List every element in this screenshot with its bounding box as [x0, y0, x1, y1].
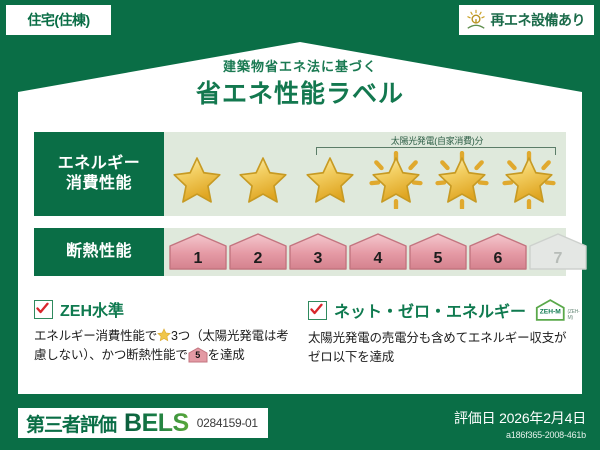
- energy-performance-row: エネルギー 消費性能 太陽光発電(自家消費)分: [34, 132, 566, 216]
- inline-grade-value: 5: [188, 349, 208, 363]
- zeh-checkbox[interactable]: [34, 300, 53, 319]
- zeh-body-part1: エネルギー消費性能で: [34, 329, 157, 343]
- insulation-grade-value: 1: [168, 250, 228, 268]
- insulation-performance-row-body: 1234567: [164, 228, 566, 276]
- building-type-tag: 住宅(住棟): [6, 5, 111, 35]
- net-zero-criterion-head: ネット・ゼロ・エネルギー ZEH-M (ZEH-M): [308, 297, 576, 323]
- zeh-body-part3: を達成: [208, 348, 245, 362]
- insulation-grade-6: 6: [468, 232, 528, 272]
- zeh-criterion-title: ZEH水準: [60, 297, 124, 321]
- solar-contribution-note: 太陽光発電(自家消費)分: [316, 134, 558, 147]
- insulation-grade-value: 6: [468, 250, 528, 268]
- insulation-grade-value: 4: [348, 250, 408, 268]
- evaluation-info: 評価日 2026年2月4日 a186f365-2008-461b: [454, 408, 586, 440]
- star-icon-solar: [367, 151, 425, 209]
- page-title: 省エネ性能ラベル: [0, 74, 600, 110]
- insulation-grade-7: 7: [528, 232, 588, 272]
- evaluation-date: 評価日 2026年2月4日: [454, 408, 586, 428]
- star-icon-solar: [433, 151, 491, 209]
- inline-star-icon: [157, 328, 171, 342]
- bels-logo: BELS: [124, 409, 189, 438]
- net-zero-checkbox[interactable]: [308, 301, 327, 320]
- energy-performance-row-label: エネルギー 消費性能: [34, 132, 164, 216]
- zeh-criterion-head: ZEH水準: [34, 297, 296, 321]
- energy-performance-row-body: 太陽光発電(自家消費)分: [164, 132, 566, 216]
- zeh-m-logo-sub: (ZEH-M): [568, 309, 583, 323]
- building-type-tag-label: 住宅(住棟): [27, 10, 89, 30]
- solar-sun-icon: [465, 9, 487, 31]
- insulation-grade-scale: 1234567: [168, 231, 560, 273]
- evaluation-uid: a186f365-2008-461b: [454, 430, 586, 440]
- insulation-performance-row: 断熱性能 1234567: [34, 228, 566, 276]
- net-zero-criterion-body: 太陽光発電の売電分も含めてエネルギー収支がゼロ以下を達成: [308, 329, 576, 368]
- renewable-energy-badge-label: 再エネ設備あり: [491, 10, 586, 30]
- insulation-grade-3: 3: [288, 232, 348, 272]
- net-zero-criterion-title: ネット・ゼロ・エネルギー: [334, 298, 526, 322]
- star-icon: [301, 151, 359, 209]
- insulation-grade-value: 7: [528, 250, 588, 268]
- bels-footer: 第三者評価 BELS 0284159-01: [18, 408, 268, 438]
- label-subtitle: 建築物省エネ法に基づく: [0, 56, 600, 75]
- zeh-criterion-body: エネルギー消費性能で3つ（太陽光発電は考慮しない）、かつ断熱性能で5を達成: [34, 327, 296, 366]
- net-zero-criterion: ネット・ゼロ・エネルギー ZEH-M (ZEH-M) 太陽光発電の売電分も含めて…: [308, 297, 576, 368]
- insulation-grade-2: 2: [228, 232, 288, 272]
- insulation-grade-value: 5: [408, 250, 468, 268]
- insulation-grade-5: 5: [408, 232, 468, 272]
- third-party-label: 第三者評価: [26, 410, 116, 437]
- insulation-grade-1: 1: [168, 232, 228, 272]
- star-rating: [164, 148, 562, 212]
- insulation-grade-value: 2: [228, 250, 288, 268]
- insulation-performance-row-label: 断熱性能: [34, 228, 164, 276]
- energy-performance-label: 住宅(住棟) 再エネ設備あり 建築物省エネ法に基づく 省エネ性能ラベル: [0, 0, 600, 450]
- star-icon-solar: [500, 151, 558, 209]
- star-icon: [234, 151, 292, 209]
- zeh-criterion: ZEH水準 エネルギー消費性能で3つ（太陽光発電は考慮しない）、かつ断熱性能で5…: [34, 297, 296, 366]
- renewable-energy-badge: 再エネ設備あり: [459, 5, 595, 35]
- svg-text:ZEH-M: ZEH-M: [540, 309, 561, 316]
- zeh-m-logo: ZEH-M (ZEH-M): [535, 297, 583, 323]
- insulation-grade-value: 3: [288, 250, 348, 268]
- certificate-number: 0284159-01: [197, 416, 258, 430]
- insulation-grade-4: 4: [348, 232, 408, 272]
- star-icon: [168, 151, 226, 209]
- inline-grade-badge: 5: [188, 347, 208, 363]
